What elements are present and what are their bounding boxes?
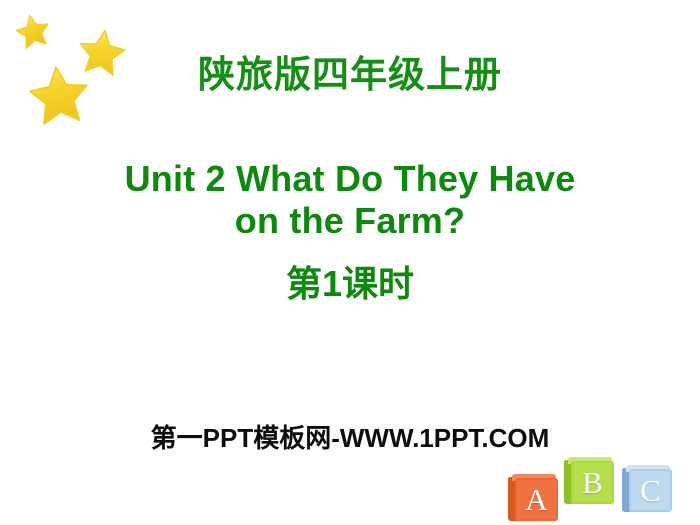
alphabet-block-a: A A — [508, 474, 562, 525]
page-title-line-1: Unit 2 What Do They Have — [0, 158, 700, 200]
cube-b-reflection-letter: B — [582, 506, 603, 525]
alphabet-block-b: B B — [564, 457, 618, 525]
alphabet-blocks-decoration: A A B B C — [500, 452, 700, 525]
textbook-edition-header: 陕旅版四年级上册 — [0, 52, 700, 98]
cube-c: C — [622, 465, 674, 515]
cube-b-reflection: B — [571, 506, 614, 525]
cube-c-letter: C — [640, 475, 661, 506]
alphabet-block-c: C C — [622, 465, 676, 525]
cube-c-reflection-letter: C — [640, 514, 661, 525]
cube-b: B — [564, 457, 616, 507]
cube-b-letter: B — [582, 467, 603, 498]
cube-a-front-face: A — [515, 478, 558, 521]
site-watermark: 第一PPT模板网-WWW.1PPT.COM — [0, 418, 700, 455]
page-title-line-2: on the Farm? — [0, 200, 700, 242]
page-title: Unit 2 What Do They Have on the Farm? — [0, 158, 700, 242]
star-icon-small — [10, 8, 55, 53]
cube-a-letter: A — [525, 484, 547, 515]
cube-a: A — [508, 474, 560, 524]
cube-c-front-face: C — [629, 469, 672, 512]
cube-b-front-face: B — [571, 461, 614, 504]
cube-c-reflection: C — [629, 514, 672, 525]
lesson-period-subtitle: 第1课时 — [0, 262, 700, 306]
presentation-slide: 陕旅版四年级上册 Unit 2 What Do They Have on the… — [0, 0, 700, 525]
